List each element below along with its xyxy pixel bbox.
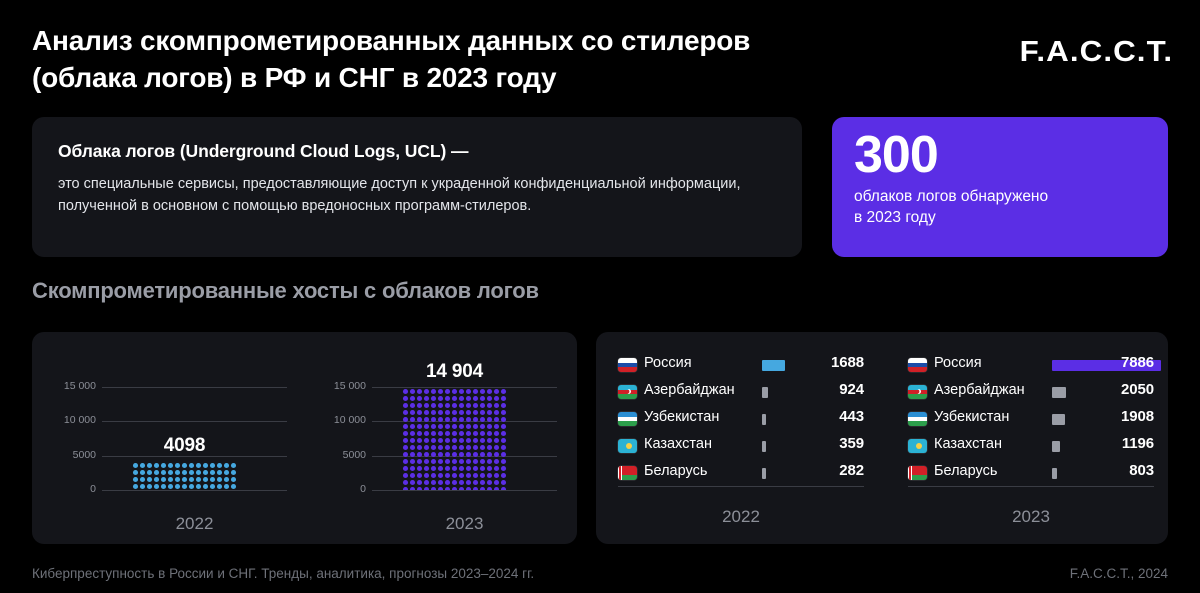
country-row: Россия1688: [618, 354, 864, 377]
definition-body: это специальные сервисы, предоставляющие…: [58, 173, 758, 217]
country-name: Казахстан: [934, 436, 1002, 452]
country-bar-track: [1052, 441, 1104, 452]
country-bar: [762, 468, 766, 479]
country-name: Узбекистан: [934, 409, 1009, 425]
gridline-10000: [102, 421, 287, 422]
country-list-2023: Россия7886Азербайджан2050Узбекистан1908К…: [908, 354, 1154, 489]
highlight-stat-card: 300 облаков логов обнаружено в 2023 году: [832, 117, 1168, 257]
y-axis-tick-10000: 10 000: [320, 414, 366, 426]
country-row: Казахстан1196: [908, 435, 1154, 458]
flag-uzbekistan-icon: [908, 412, 927, 426]
bar-fill-2023: [402, 388, 507, 490]
country-bar-track: [762, 441, 814, 452]
country-bar: [762, 414, 766, 425]
gridline-15000: [102, 387, 287, 388]
definition-heading: Облака логов (Underground Cloud Logs, UC…: [58, 141, 776, 162]
country-row: Узбекистан1908: [908, 408, 1154, 431]
y-axis-tick-15000: 15 000: [50, 380, 96, 392]
country-bar-track: [762, 387, 814, 398]
title-line-2: (облака логов) в РФ и СНГ в 2023 году: [32, 59, 892, 96]
country-value: 803: [1129, 462, 1154, 479]
country-value: 7886: [1121, 354, 1154, 371]
country-row: Азербайджан2050: [908, 381, 1154, 404]
country-name: Казахстан: [644, 436, 712, 452]
y-axis-tick-0: 0: [320, 483, 366, 495]
country-breakdown-panel: Россия1688Азербайджан924Узбекистан443Каз…: [596, 332, 1168, 544]
country-list-divider: [618, 486, 864, 487]
title-line-1: Анализ скомпрометированных данных со сти…: [32, 25, 750, 56]
chart-column-2023: 0500010 00015 00014 9042023: [320, 332, 565, 544]
country-name: Беларусь: [644, 463, 707, 479]
stat-value: 300: [854, 129, 1168, 182]
gridline-0: [372, 490, 557, 491]
country-row: Узбекистан443: [618, 408, 864, 431]
country-value: 2050: [1121, 381, 1154, 398]
country-bar: [1052, 414, 1065, 425]
flag-russia-icon: [908, 358, 927, 372]
country-value: 924: [839, 381, 864, 398]
country-row: Беларусь803: [908, 462, 1154, 485]
x-axis-label-2022: 2022: [102, 514, 287, 534]
definition-card: Облака логов (Underground Cloud Logs, UC…: [32, 117, 802, 257]
footer-report-name: Киберпреступность в России и СНГ. Тренды…: [32, 566, 534, 581]
country-row: Азербайджан924: [618, 381, 864, 404]
infographic-slide: Анализ скомпрометированных данных со сти…: [0, 0, 1200, 593]
y-axis-tick-10000: 10 000: [50, 414, 96, 426]
country-bar-track: [1052, 414, 1104, 425]
cards-row: Облака логов (Underground Cloud Logs, UC…: [32, 117, 1168, 257]
country-bar: [762, 387, 768, 398]
country-row: Россия7886: [908, 354, 1154, 377]
bar-value-2022: 4098: [132, 435, 237, 457]
y-axis-tick-5000: 5000: [320, 449, 366, 461]
country-bar-track: [762, 468, 814, 479]
facct-logo: F.A.C.C.T.: [1020, 36, 1173, 69]
country-value: 1688: [831, 354, 864, 371]
bar-2023: [402, 388, 507, 490]
flag-kazakhstan-icon: [908, 439, 927, 453]
flag-azerbaijan-icon: [618, 385, 637, 399]
country-value: 282: [839, 462, 864, 479]
country-name: Азербайджан: [644, 382, 735, 398]
flag-belarus-icon: [618, 466, 637, 480]
country-bar-track: [762, 360, 814, 371]
country-bar: [1052, 387, 1066, 398]
country-bar: [1052, 441, 1060, 452]
country-value: 443: [839, 408, 864, 425]
country-row: Казахстан359: [618, 435, 864, 458]
footer-copyright: F.A.C.C.T., 2024: [1070, 566, 1168, 581]
country-bar: [762, 360, 785, 371]
country-bar: [762, 441, 766, 452]
country-name: Узбекистан: [644, 409, 719, 425]
slide-header: Анализ скомпрометированных данных со сти…: [32, 22, 1172, 102]
bar-value-2023: 14 904: [402, 361, 507, 383]
country-bar-track: [1052, 468, 1104, 479]
flag-kazakhstan-icon: [618, 439, 637, 453]
flag-uzbekistan-icon: [618, 412, 637, 426]
y-axis-tick-15000: 15 000: [320, 380, 366, 392]
country-list-year-2022: 2022: [618, 507, 864, 527]
section-title: Скомпрометированные хосты с облаков лого…: [32, 278, 539, 304]
country-name: Россия: [644, 355, 692, 371]
country-list-divider: [908, 486, 1154, 487]
flag-belarus-icon: [908, 466, 927, 480]
stat-caption-line-1: облаков логов обнаружено: [854, 188, 1048, 205]
hosts-bar-chart-panel: 0500010 00015 000409820220500010 00015 0…: [32, 332, 577, 544]
country-bar-track: [762, 414, 814, 425]
stat-caption-line-2: в 2023 году: [854, 209, 936, 226]
bar-fill-2022: [132, 462, 237, 490]
bar-2022: [132, 462, 237, 490]
country-row: Беларусь282: [618, 462, 864, 485]
y-axis-tick-5000: 5000: [50, 449, 96, 461]
dot-matrix-bar-chart: 0500010 00015 000409820220500010 00015 0…: [32, 332, 577, 544]
gridline-0: [102, 490, 287, 491]
country-list-year-2023: 2023: [908, 507, 1154, 527]
page-title: Анализ скомпрометированных данных со сти…: [32, 22, 892, 96]
country-bar-track: [1052, 360, 1104, 371]
flag-russia-icon: [618, 358, 637, 372]
country-value: 1196: [1122, 435, 1154, 452]
y-axis-tick-0: 0: [50, 483, 96, 495]
x-axis-label-2023: 2023: [372, 514, 557, 534]
country-name: Россия: [934, 355, 982, 371]
flag-azerbaijan-icon: [908, 385, 927, 399]
country-list-2022: Россия1688Азербайджан924Узбекистан443Каз…: [618, 354, 864, 489]
stat-caption: облаков логов обнаружено в 2023 году: [854, 187, 1168, 228]
country-value: 1908: [1121, 408, 1154, 425]
chart-column-2022: 0500010 00015 00040982022: [50, 332, 295, 544]
country-name: Азербайджан: [934, 382, 1025, 398]
country-bar-track: [1052, 387, 1104, 398]
country-name: Беларусь: [934, 463, 997, 479]
country-value: 359: [839, 435, 864, 452]
country-bar: [1052, 468, 1057, 479]
